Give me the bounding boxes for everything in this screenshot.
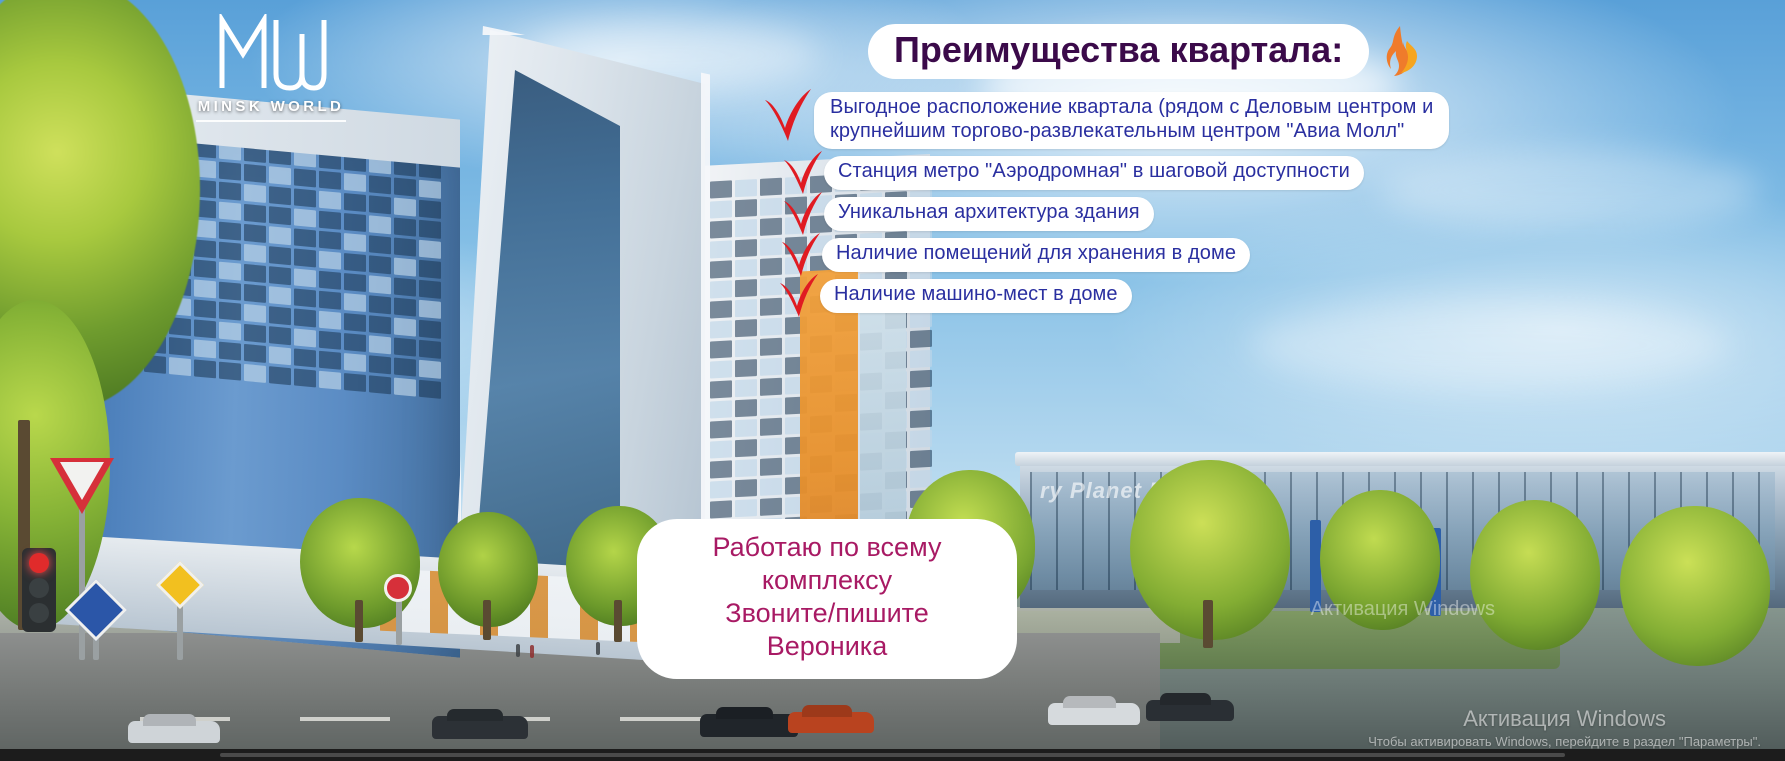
tree-right (1470, 500, 1600, 650)
fire-icon (1377, 25, 1421, 77)
logo-wordmark: MINSK WORLD (196, 98, 346, 115)
list-item: Наличие помещений для хранения в доме (780, 238, 1482, 274)
car (432, 716, 528, 739)
mall-roof (1015, 452, 1785, 466)
contact-card: Работаю по всему комплексу Звоните/пишит… (637, 519, 1017, 679)
page-title: Преимущества квартала: (868, 24, 1369, 79)
road-marking (620, 717, 710, 721)
list-item-text: Станция метро "Аэродромная" в шаговой до… (824, 156, 1364, 190)
list-item: Выгодное расположение квартала (рядом с … (762, 92, 1482, 149)
logo-rule (196, 120, 346, 122)
contact-line-3: Вероника (657, 630, 997, 663)
list-item: Станция метро "Аэродромная" в шаговой до… (782, 156, 1482, 192)
contact-line-1: Работаю по всему комплексу (657, 531, 997, 597)
pedestrian (530, 645, 534, 658)
list-item: Наличие машино-мест в доме (778, 279, 1482, 315)
progress-track[interactable] (220, 753, 1565, 757)
windows-watermark-ghost: Активация Windows (1311, 598, 1495, 621)
pedestrian (516, 644, 520, 657)
promo-image: ry Planet Pl (0, 0, 1785, 761)
headline-group: Преимущества квартала: (868, 24, 1421, 79)
contact-line-2: Звоните/пишите (657, 597, 997, 630)
red-checkmark-icon (782, 191, 824, 233)
tree-trunk (355, 600, 363, 642)
no-entry-sign (384, 574, 412, 602)
red-checkmark-icon (778, 273, 820, 315)
windows-activation-watermark: Активация Windows Чтобы активировать Win… (1368, 705, 1761, 751)
traffic-light (22, 548, 56, 632)
car (788, 712, 874, 733)
tree-trunk (614, 600, 622, 642)
list-item-line2: крупнейшим торгово-развлекательным центр… (830, 120, 1433, 144)
mw-monogram-icon (196, 14, 346, 92)
tree-trunk (483, 600, 491, 640)
tree-right (1620, 506, 1770, 666)
road-marking (300, 717, 390, 721)
red-checkmark-icon (780, 232, 822, 274)
list-item-text: Наличие помещений для хранения в доме (822, 238, 1250, 272)
red-checkmark-icon (762, 88, 814, 144)
car (700, 714, 798, 737)
yield-sign (50, 458, 114, 514)
list-item-text: Выгодное расположение квартала (рядом с … (814, 92, 1449, 149)
pedestrian (596, 642, 600, 655)
car (128, 721, 220, 743)
benefits-list: Выгодное расположение квартала (рядом с … (762, 92, 1482, 322)
list-item: Уникальная архитектура здания (782, 197, 1482, 233)
tree-trunk (1203, 600, 1213, 648)
player-bottom-bar[interactable] (0, 749, 1785, 761)
watermark-title: Активация Windows (1368, 705, 1761, 733)
minsk-world-logo: MINSK WORLD (196, 14, 346, 122)
car (1048, 703, 1140, 725)
list-item-text: Наличие машино-мест в доме (820, 279, 1132, 313)
red-checkmark-icon (782, 150, 824, 192)
car (1146, 700, 1234, 721)
list-item-line1: Выгодное расположение квартала (рядом с … (830, 96, 1433, 120)
list-item-text: Уникальная архитектура здания (824, 197, 1154, 231)
